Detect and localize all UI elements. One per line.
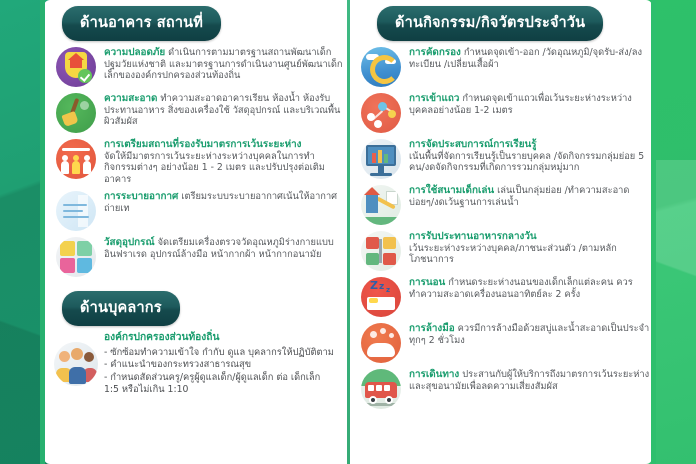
item-heading: ความปลอดภัย — [104, 47, 165, 58]
list-item: การใช้สนามเด็กเล่น เล่นเป็นกลุ่มย่อย /ทำ… — [353, 183, 651, 225]
item-body: เว้นระยะห่างระหว่างบุคคล/ภาชนะส่วนตัว /ต… — [409, 243, 617, 266]
list-item: การรับประทานอาหารกลางวันเว้นระยะห่างระหว… — [353, 229, 651, 271]
section-pill-label: ด้านอาคาร สถานที่ — [62, 6, 221, 41]
item-heading: การเตรียมสถานที่รองรับมาตรการเว้นระยะห่า… — [104, 139, 346, 151]
section-pill-label: ด้านกิจกรรม/กิจวัตรประจำวัน — [377, 6, 603, 41]
list-item-text: วัสดุอุปกรณ์ จัดเตรียมเครื่องตรวจวัดอุณห… — [104, 235, 346, 260]
list-item-text: การล้างมือ ควรมีการล้างมือด้วยสบู่และน้ำ… — [409, 321, 651, 346]
item-body: จัดให้มีมาตรการเว้นระยะห่างระหว่างบุคคลใ… — [104, 151, 325, 185]
cleaning-broom-icon — [56, 93, 96, 133]
learning-monitor-icon — [361, 139, 401, 179]
list-item-text: การคัดกรอง กำหนดจุดเข้า-ออก /วัดอุณหภูมิ… — [409, 45, 651, 70]
section-pill-label: ด้านบุคลากร — [62, 291, 180, 326]
column-divider — [347, 0, 350, 464]
handwash-icon — [361, 323, 401, 363]
list-item: ความสะอาด ทำความสะอาดอาคารเรียน ห้องน้ำ … — [48, 91, 346, 133]
travel-bus-icon — [361, 369, 401, 409]
list-item: การระบายอากาศ เตรียมระบบระบายอากาศเน้นให… — [48, 189, 346, 231]
list-item: การคัดกรอง กำหนดจุดเข้า-ออก /วัดอุณหภูมิ… — [353, 45, 651, 87]
list-item: การเดินทาง ประสานกับผู้ให้บริการถึงมาตรก… — [353, 367, 651, 409]
list-item-text: การนอน กำหนดระยะห่างนอนของเด็กเล็กแต่ละค… — [409, 275, 651, 300]
right-column: ด้านกิจกรรม/กิจวัตรประจำวัน การคัดกรอง ก… — [353, 0, 651, 464]
list-item-text: การระบายอากาศ เตรียมระบบระบายอากาศเน้นให… — [104, 189, 346, 214]
item-heading: การรับประทานอาหารกลางวัน — [409, 231, 651, 243]
personnel-title: องค์กรปกครองส่วนท้องถิ่น — [104, 332, 346, 344]
left-column: ด้านอาคาร สถานที่ ความปลอดภัย ดำเนินการต… — [48, 0, 346, 464]
item-heading: การจัดประสบการณ์การเรียนรู้ — [409, 139, 651, 151]
section-header-activities: ด้านกิจกรรม/กิจวัตรประจำวัน — [377, 6, 651, 41]
list-item-text: การเดินทาง ประสานกับผู้ให้บริการถึงมาตรก… — [409, 367, 651, 392]
personnel-block: องค์กรปกครองส่วนท้องถิ่น - ซักซ้อมทำความ… — [48, 330, 346, 396]
lunch-tray-icon — [361, 231, 401, 271]
staff-group-icon — [54, 342, 98, 386]
list-item: การเตรียมสถานที่รองรับมาตรการเว้นระยะห่า… — [48, 137, 346, 185]
personnel-bullet: - กำหนดสัดส่วนครู/ครูผู้ดูแลเด็ก/ผู้ดูแล… — [104, 372, 346, 384]
personnel-bullet: - ซักซ้อมทำความเข้าใจ กำกับ ดูแล บุคลากร… — [104, 347, 346, 359]
list-item-text: การจัดประสบการณ์การเรียนรู้เน้นพื้นที่จั… — [409, 137, 651, 174]
safety-shield-icon — [56, 47, 96, 87]
ventilation-icon — [56, 191, 96, 231]
list-item: Zzz การนอน กำหนดระยะห่างนอนของเด็กเล็กแต… — [353, 275, 651, 317]
list-item-text: ความสะอาด ทำความสะอาดอาคารเรียน ห้องน้ำ … — [104, 91, 346, 128]
item-heading: วัสดุอุปกรณ์ — [104, 237, 155, 248]
item-heading: การใช้สนามเด็กเล่น — [409, 185, 494, 196]
list-item: การจัดประสบการณ์การเรียนรู้เน้นพื้นที่จั… — [353, 137, 651, 179]
supplies-checklist-icon — [56, 237, 96, 277]
sleep-icon: Zzz — [361, 277, 401, 317]
list-item: การล้างมือ ควรมีการล้างมือด้วยสบู่และน้ำ… — [353, 321, 651, 363]
section-header-personnel: ด้านบุคลากร — [62, 291, 346, 326]
item-heading: การเข้าแถว — [409, 93, 459, 104]
screening-icon — [361, 47, 401, 87]
section-header-building: ด้านอาคาร สถานที่ — [62, 6, 346, 41]
list-item: วัสดุอุปกรณ์ จัดเตรียมเครื่องตรวจวัดอุณห… — [48, 235, 346, 277]
item-body: เน้นพื้นที่จัดการเรียนรู้เป็นรายบุคคล /จ… — [409, 151, 644, 174]
item-heading: การล้างมือ — [409, 323, 455, 334]
left-green-rail — [40, 0, 45, 464]
list-item-text: การใช้สนามเด็กเล่น เล่นเป็นกลุ่มย่อย /ทำ… — [409, 183, 651, 208]
list-item-text: การเข้าแถว กำหนดจุดเข้าแถวเพื่อเว้นระยะห… — [409, 91, 651, 116]
infographic-poster: ด้านอาคาร สถานที่ ความปลอดภัย ดำเนินการต… — [0, 0, 696, 464]
item-heading: การคัดกรอง — [409, 47, 461, 58]
list-item-text: ความปลอดภัย ดำเนินการตามมาตรฐานสถานพัฒนา… — [104, 45, 346, 82]
right-green-rail — [651, 0, 656, 464]
list-item: การเข้าแถว กำหนดจุดเข้าแถวเพื่อเว้นระยะห… — [353, 91, 651, 133]
list-item: ความปลอดภัย ดำเนินการตามมาตรฐานสถานพัฒนา… — [48, 45, 346, 87]
personnel-bullet: - คำแนะนำของกระทรวงสาธารณสุข — [104, 359, 346, 371]
list-item-text: การเตรียมสถานที่รองรับมาตรการเว้นระยะห่า… — [104, 137, 346, 185]
list-item-text: การรับประทานอาหารกลางวันเว้นระยะห่างระหว… — [409, 229, 651, 266]
social-distancing-icon — [56, 139, 96, 179]
item-heading: การนอน — [409, 277, 445, 288]
item-heading: การเดินทาง — [409, 369, 459, 380]
item-heading: ความสะอาด — [104, 93, 157, 104]
queue-line-icon — [361, 93, 401, 133]
playground-icon — [361, 185, 401, 225]
personnel-text: องค์กรปกครองส่วนท้องถิ่น - ซักซ้อมทำความ… — [104, 330, 346, 396]
item-heading: การระบายอากาศ — [104, 191, 178, 202]
personnel-bullet: 1:5 หรือไม่เกิน 1:10 — [104, 384, 346, 396]
